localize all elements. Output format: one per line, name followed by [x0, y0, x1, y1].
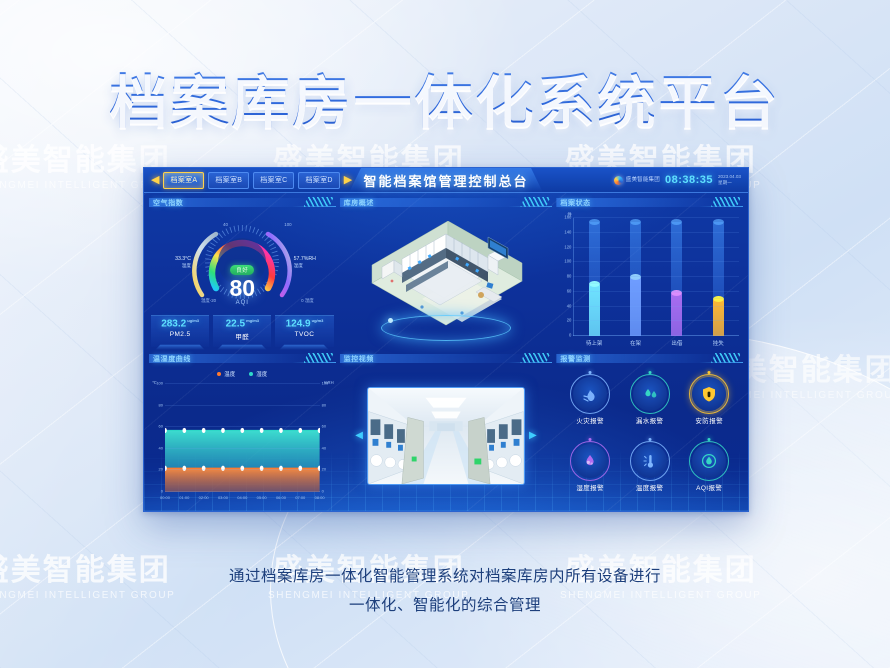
panel-air-quality: 空气指数	[149, 197, 336, 349]
th-point	[182, 428, 186, 433]
alarm-label: 火灾报警	[573, 415, 607, 425]
aqi-unit: AQI	[212, 300, 272, 306]
panel-video-surveillance: 监控视频 ◀	[340, 353, 553, 505]
alarm-ring	[633, 377, 667, 411]
th-point	[221, 428, 225, 433]
bar-chart-plot: 待上架在架出借挂失 020406080100120140160	[573, 218, 739, 336]
alarm-item-3[interactable]: 湿度报警	[573, 444, 607, 492]
alarm-item-1[interactable]: 漏水报警	[633, 377, 667, 425]
alarm-item-2[interactable]: 安防报警	[692, 377, 726, 425]
panel-title: 库房概述	[344, 198, 374, 208]
brand-name: 盛美智能集团	[626, 177, 660, 183]
bar-chart-y-tick: 20	[567, 318, 572, 323]
th-x-label: 04:00	[237, 495, 247, 500]
alarm-ring	[692, 444, 726, 478]
panel-deco-line	[508, 362, 552, 363]
alarm-item-5[interactable]: AQI报警	[692, 444, 726, 492]
panel-header: 库房概述	[340, 197, 553, 208]
aqi-value: 80	[212, 277, 272, 300]
archive-status-body: 件 待上架在架出借挂失 020406080100120140160	[556, 210, 743, 349]
air-metric-row: 283.2ug/m3 PM2.5 22.5mg/m3 甲醛 124.9ug/m3	[151, 315, 334, 347]
bar-chart-y-tick: 140	[564, 229, 571, 234]
date-display: 2023.04.03 星期一	[718, 174, 741, 186]
bar-chart-column[interactable]: 挂失	[713, 218, 724, 336]
alarm-item-0[interactable]: 火灾报警	[573, 377, 607, 425]
th-gridline: 2020	[165, 469, 320, 470]
panel-title: 温湿度曲线	[153, 354, 191, 364]
bar-chart-gridline: 100	[573, 261, 739, 262]
th-y-tick-right: 100	[322, 381, 329, 386]
th-x-label: 02:00	[199, 495, 209, 500]
th-point	[298, 428, 302, 433]
alarm-body: 火灾报警漏水报警安防报警湿度报警温度报警AQI报警	[556, 366, 743, 505]
brand-logo-icon	[614, 176, 623, 185]
legend-item-humidity[interactable]: 湿度	[249, 370, 267, 378]
panel-deco-line	[508, 206, 552, 207]
panel-header: 档案状态	[556, 197, 743, 208]
panel-header: 监控视频	[340, 353, 553, 364]
alarm-label: 安防报警	[692, 415, 726, 425]
th-x-label: 07:00	[295, 495, 305, 500]
warehouse-base-ring	[381, 315, 511, 341]
th-y-tick-right: 80	[322, 402, 326, 407]
bar-chart-gridline: 140	[573, 232, 739, 233]
shield-icon	[700, 385, 718, 403]
clock: 08:38:35	[665, 174, 713, 186]
alarm-label: 温度报警	[633, 482, 667, 492]
warehouse-3d-model[interactable]	[362, 221, 530, 333]
gauge-scale-right-min: 0 湿度	[301, 298, 313, 304]
video-next-icon[interactable]: ▶	[529, 430, 537, 441]
th-point	[240, 428, 244, 433]
th-y-tick-right: 60	[322, 424, 326, 429]
bar-chart-x-label: 待上架	[586, 339, 603, 347]
gauge-scale-right-max: 100	[284, 222, 291, 227]
alarm-item-4[interactable]: 温度报警	[633, 444, 667, 492]
bar-chart-gridline: 160	[573, 217, 739, 218]
metric-value: 124.9ug/m3	[275, 319, 333, 329]
dashboard: ◀ 档案室A 档案室B 档案室C 档案室D ▶ 智能档案馆管理控制总台 盛美智能…	[143, 167, 749, 512]
panel-temp-humidity-curve: 温湿度曲线 温度 湿度 ℃ %RH	[149, 353, 336, 505]
temperature-readout: 33.3°C 温度	[151, 256, 191, 269]
bar-chart-y-tick: 160	[564, 215, 571, 220]
bar-fill	[630, 277, 641, 336]
dashboard-header: ◀ 档案室A 档案室B 档案室C 档案室D ▶ 智能档案馆管理控制总台 盛美智能…	[144, 168, 748, 193]
page-caption: 通过档案库房一体化智能管理系统对档案库房内所有设备进行 一体化、智能化的综合管理	[0, 562, 890, 621]
panel-header: 空气指数	[149, 197, 336, 208]
warehouse-3d-stage[interactable]	[340, 210, 553, 349]
archive-status-chart: 件 待上架在架出借挂失 020406080100120140160	[556, 210, 743, 349]
panel-header: 报警监测	[556, 353, 743, 364]
caption-line-1: 通过档案库房一体化智能管理系统对档案库房内所有设备进行	[0, 562, 890, 591]
bar-chart-bars: 待上架在架出借挂失	[573, 218, 739, 336]
alarm-ring	[633, 444, 667, 478]
th-y-tick-left: 80	[159, 402, 163, 407]
metric-value: 22.5mg/m3	[213, 319, 271, 329]
metric-value: 283.2ug/m3	[151, 319, 209, 329]
panel-title: 档案状态	[560, 198, 590, 208]
bar-chart-column[interactable]: 在架	[630, 218, 641, 336]
aqi-level-badge: 良好	[230, 265, 254, 275]
th-point	[260, 428, 264, 433]
th-y-tick-right: 20	[322, 467, 326, 472]
alarm-label: AQI报警	[692, 482, 726, 492]
video-feed-image	[368, 388, 524, 484]
brand-logo: 盛美智能集团	[614, 176, 660, 185]
bar-chart-gridline: 40	[573, 306, 739, 307]
th-y-tick-left: 20	[159, 467, 163, 472]
th-gridline: 6060	[165, 426, 320, 427]
th-point	[202, 428, 206, 433]
th-gridline: 100100	[165, 383, 320, 384]
bar-chart-gridline: 0	[573, 335, 739, 336]
metric-formaldehyde: 22.5mg/m3 甲醛	[213, 315, 271, 347]
bar-chart-column[interactable]: 出借	[671, 218, 682, 336]
panel-warehouse-overview: 库房概述	[340, 197, 553, 349]
th-x-label: 06:00	[276, 495, 286, 500]
th-x-label: 00:00	[160, 495, 170, 500]
water-drop-icon	[641, 385, 659, 403]
bar-chart-y-tick: 80	[567, 274, 572, 279]
th-x-label: 08:00	[315, 495, 325, 500]
th-area-温度	[165, 468, 320, 492]
panel-deco-line	[699, 206, 743, 207]
bar-chart-x-label: 挂失	[713, 339, 724, 347]
bar-chart-column[interactable]: 待上架	[589, 218, 600, 336]
th-y-tick-left: 40	[159, 445, 163, 450]
th-chart-svg	[165, 384, 320, 492]
panel-deco-line	[292, 362, 336, 363]
video-prev-icon[interactable]: ◀	[355, 430, 363, 441]
alarm-ring	[573, 377, 607, 411]
th-chart-plot: 00202040406060808010010000:0001:0002:000…	[165, 384, 320, 492]
th-y-tick-left: 100	[156, 381, 163, 386]
th-curve-body: 温度 湿度 ℃ %RH	[149, 366, 336, 505]
caption-line-2: 一体化、智能化的综合管理	[0, 591, 890, 620]
th-x-label: 01:00	[179, 495, 189, 500]
aqi-gauge: 良好 80 AQI	[186, 212, 298, 307]
th-gridline: 00	[165, 491, 320, 492]
panel-alarm-monitoring: 报警监测 火灾报警漏水报警安防报警湿度报警温度报警AQI报警	[556, 353, 743, 505]
bar-chart-y-tick: 60	[567, 288, 572, 293]
legend-swatch-humidity	[249, 372, 253, 376]
alarm-ring	[692, 377, 726, 411]
th-point	[279, 428, 283, 433]
warehouse-body	[340, 210, 553, 349]
bar-fill	[589, 284, 600, 336]
panel-header: 温湿度曲线	[149, 353, 336, 364]
video-feed[interactable]	[367, 387, 525, 485]
panel-title: 空气指数	[153, 198, 183, 208]
page-title: 档案库房一体化系统平台	[0, 55, 890, 139]
gauge-scale-left-min: 温度-20	[201, 298, 216, 304]
bar-chart-y-tick: 120	[564, 244, 571, 249]
legend-swatch-temperature	[217, 372, 221, 376]
metric-tvoc: 124.9ug/m3 TVOC	[275, 315, 333, 347]
alarm-ring	[573, 444, 607, 478]
metric-pm25: 283.2ug/m3 PM2.5	[151, 315, 209, 347]
video-stage: ◀	[340, 366, 553, 505]
th-gridline: 4040	[165, 448, 320, 449]
panel-deco-line	[699, 362, 743, 363]
panel-title: 报警监测	[560, 354, 590, 364]
aqi-leaf-icon	[700, 452, 718, 470]
bar-chart-gridline: 120	[573, 247, 739, 248]
alarm-grid: 火灾报警漏水报警安防报警湿度报警温度报警AQI报警	[556, 366, 743, 505]
th-y-tick-right: 0	[322, 489, 324, 494]
dashboard-screenshot: ◀ 档案室A 档案室B 档案室C 档案室D ▶ 智能档案馆管理控制总台 盛美智能…	[143, 167, 749, 512]
bar-chart-gridline: 80	[573, 276, 739, 277]
bar-chart-x-label: 在架	[630, 339, 641, 347]
metric-label: PM2.5	[151, 331, 209, 338]
bar-chart-y-tick: 40	[567, 303, 572, 308]
thermometer-icon	[641, 452, 659, 470]
humidity-readout: 57.7%RH 湿度	[294, 256, 336, 269]
humidity-icon	[581, 452, 599, 470]
metric-label: TVOC	[275, 331, 333, 338]
panel-archive-status: 档案状态 件 待上架在架出借挂失 020406080100120140160	[556, 197, 743, 349]
th-y-tick-right: 40	[322, 445, 326, 450]
alarm-label: 湿度报警	[573, 482, 607, 492]
bar-chart-gridline: 20	[573, 320, 739, 321]
bar-chart-y-tick: 0	[569, 333, 571, 338]
panel-deco-line	[292, 206, 336, 207]
video-body: ◀	[340, 366, 553, 505]
air-quality-body: 良好 80 AQI 33.3°C 温度 57.7%RH 湿度 40 100 温度…	[149, 210, 336, 349]
dashboard-grid: 空气指数	[144, 193, 748, 511]
bar-chart-x-label: 出借	[671, 339, 682, 347]
metric-label: 甲醛	[213, 331, 271, 341]
th-legend: 温度 湿度	[149, 370, 336, 378]
th-x-label: 05:00	[257, 495, 267, 500]
alarm-label: 漏水报警	[633, 415, 667, 425]
th-x-label: 03:00	[218, 495, 228, 500]
th-y-tick-left: 0	[161, 489, 163, 494]
fire-icon	[581, 385, 599, 403]
legend-item-temperature[interactable]: 温度	[217, 370, 235, 378]
panel-title: 监控视频	[344, 354, 374, 364]
gauge-scale-left-max: 40	[223, 222, 228, 227]
bar-fill	[671, 293, 682, 336]
bar-chart-gridline: 60	[573, 291, 739, 292]
header-status-area: 盛美智能集团 08:38:35 2023.04.03 星期一	[614, 174, 748, 186]
bar-chart-y-tick: 100	[564, 259, 571, 264]
aqi-readout: 良好 80 AQI	[212, 259, 272, 306]
th-y-tick-left: 60	[159, 424, 163, 429]
th-gridline: 8080	[165, 405, 320, 406]
